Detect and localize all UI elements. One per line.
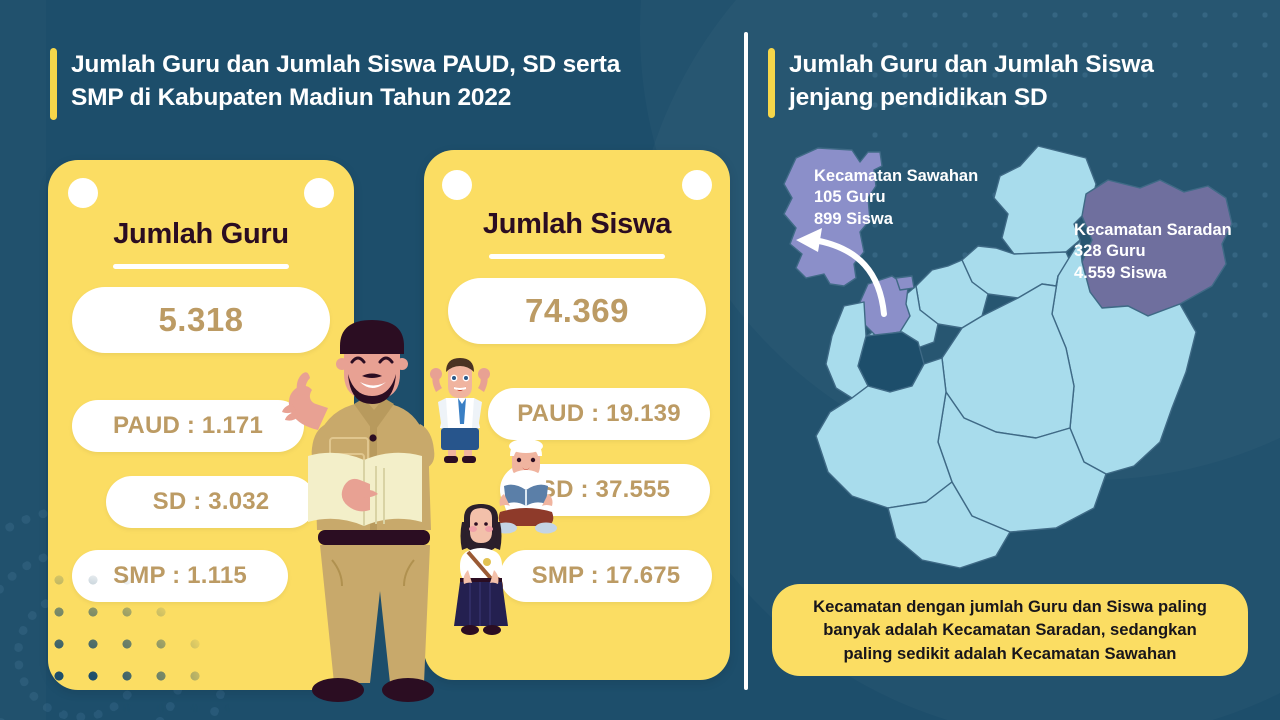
card-title-underline [113,264,289,269]
panel-divider [744,32,748,690]
siswa-row-paud: PAUD : 19.139 [488,388,710,440]
right-heading-text: Jumlah Guru dan Jumlah Siswa jenjang pen… [789,48,1154,118]
card-punch-hole-left [68,178,98,208]
card-title-guru: Jumlah Guru [48,218,354,251]
conclusion-note-box: Kecamatan dengan jumlah Guru dan Siswa p… [772,584,1248,676]
right-panel-heading: Jumlah Guru dan Jumlah Siswa jenjang pen… [768,48,1154,118]
map-label-sawahan: Kecamatan Sawahan 105 Guru 899 Siswa [814,166,978,230]
card-title-siswa: Jumlah Siswa [424,208,730,241]
student-girl-illustration [446,502,516,638]
left-panel-heading: Jumlah Guru dan Jumlah Siswa PAUD, SD se… [50,48,620,120]
map-label-saradan: Kecamatan Saradan 328 Guru 4.559 Siswa [1074,220,1232,284]
conclusion-note-text: Kecamatan dengan jumlah Guru dan Siswa p… [813,595,1207,665]
guru-row-smp: SMP : 1.115 [72,550,288,602]
map-region-sawahan-notch [896,276,914,290]
heading-accent-bar [50,48,57,120]
map-region-left-column [826,302,868,398]
left-heading-text: Jumlah Guru dan Jumlah Siswa PAUD, SD se… [71,48,620,120]
card-title-underline [489,254,665,259]
map-kabupaten-madiun: Kecamatan Sawahan 105 Guru 899 Siswa Kec… [756,136,1280,580]
siswa-total-value: 74.369 [448,278,706,344]
card-punch-hole-right [304,178,334,208]
heading-accent-bar [768,48,775,118]
card-punch-hole-right [682,170,712,200]
siswa-row-smp: SMP : 17.675 [500,550,712,602]
card-punch-hole-left [442,170,472,200]
